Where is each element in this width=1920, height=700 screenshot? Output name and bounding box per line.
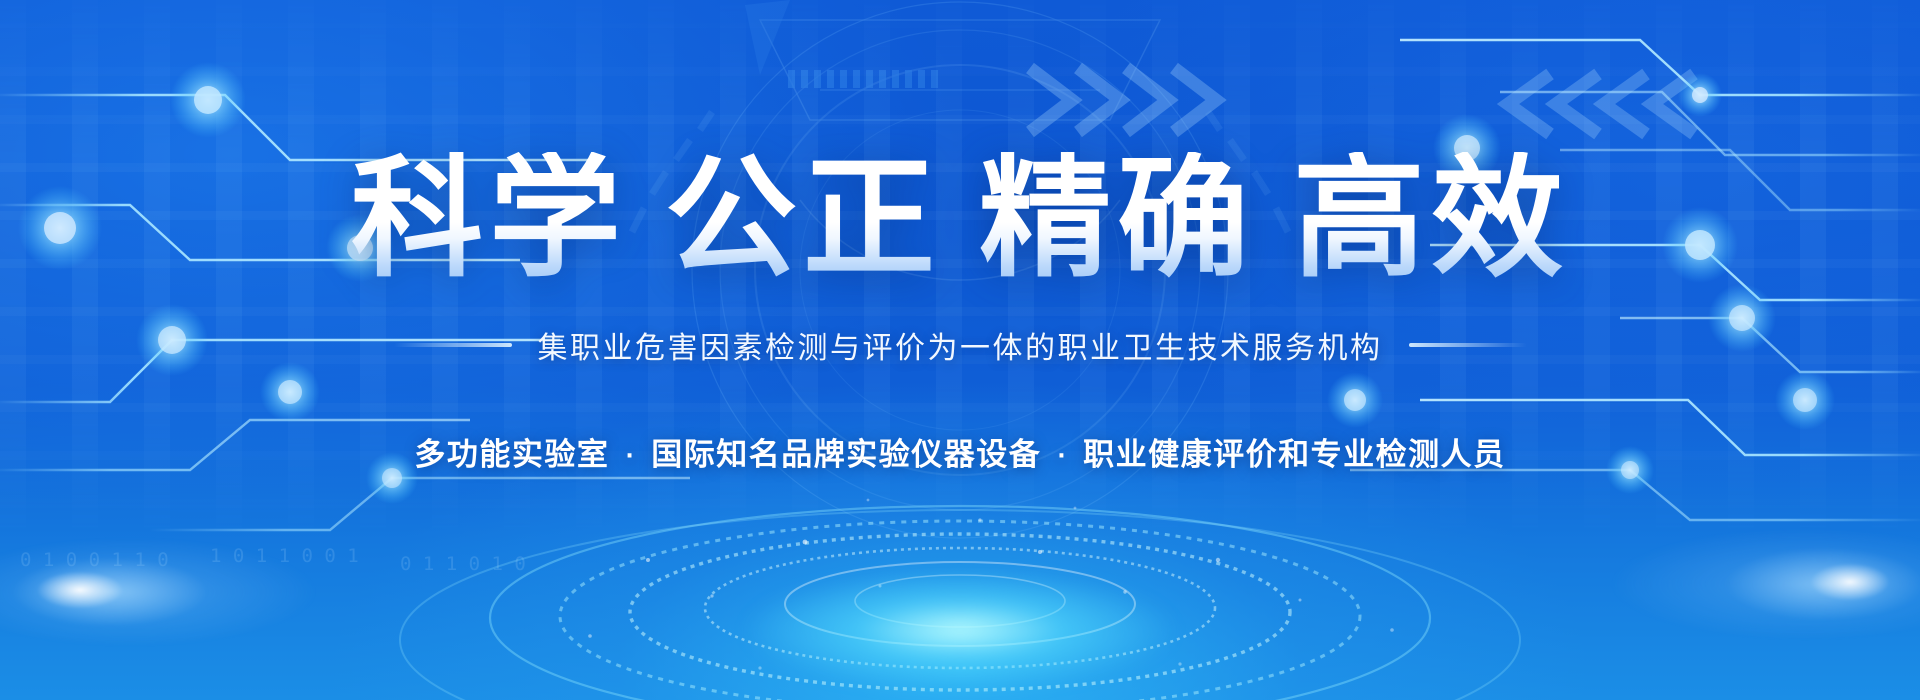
disc-core-glow <box>745 570 1175 690</box>
headline-word-3: 精确 <box>979 142 1255 296</box>
banner-content: 科学公正精确高效 集职业危害因素检测与评价为一体的职业卫生技术服务机构 多功能实… <box>0 0 1920 474</box>
radial-disc-glow <box>440 478 1480 700</box>
headline-word-2: 公正 <box>665 142 941 296</box>
divider-line-right <box>1409 343 1527 347</box>
lens-flare-icon <box>1550 510 1920 670</box>
tagline-separator: · <box>1041 444 1083 469</box>
tagline-item-3: 职业健康评价和专业检测人员 <box>1083 437 1506 473</box>
hero-banner: 0 1 0 0 1 1 0 1 0 1 1 0 0 1 0 1 1 0 1 0 … <box>0 0 1920 700</box>
banner-subtitle: 集职业危害因素检测与评价为一体的职业卫生技术服务机构 <box>538 323 1383 367</box>
page-title: 科学公正精确高效 <box>0 152 1920 287</box>
headline-word-1: 科学 <box>351 142 627 296</box>
lens-flare-icon <box>0 520 380 670</box>
tagline-item-2: 国际知名品牌实验仪器设备 <box>651 437 1041 473</box>
banner-tagline: 多功能实验室·国际知名品牌实验仪器设备·职业健康评价和专业检测人员 <box>0 429 1920 474</box>
tagline-separator: · <box>609 444 651 469</box>
tagline-item-1: 多功能实验室 <box>414 437 609 473</box>
subtitle-row: 集职业危害因素检测与评价为一体的职业卫生技术服务机构 <box>0 323 1920 367</box>
headline-word-4: 高效 <box>1293 142 1569 296</box>
divider-line-left <box>394 343 512 347</box>
